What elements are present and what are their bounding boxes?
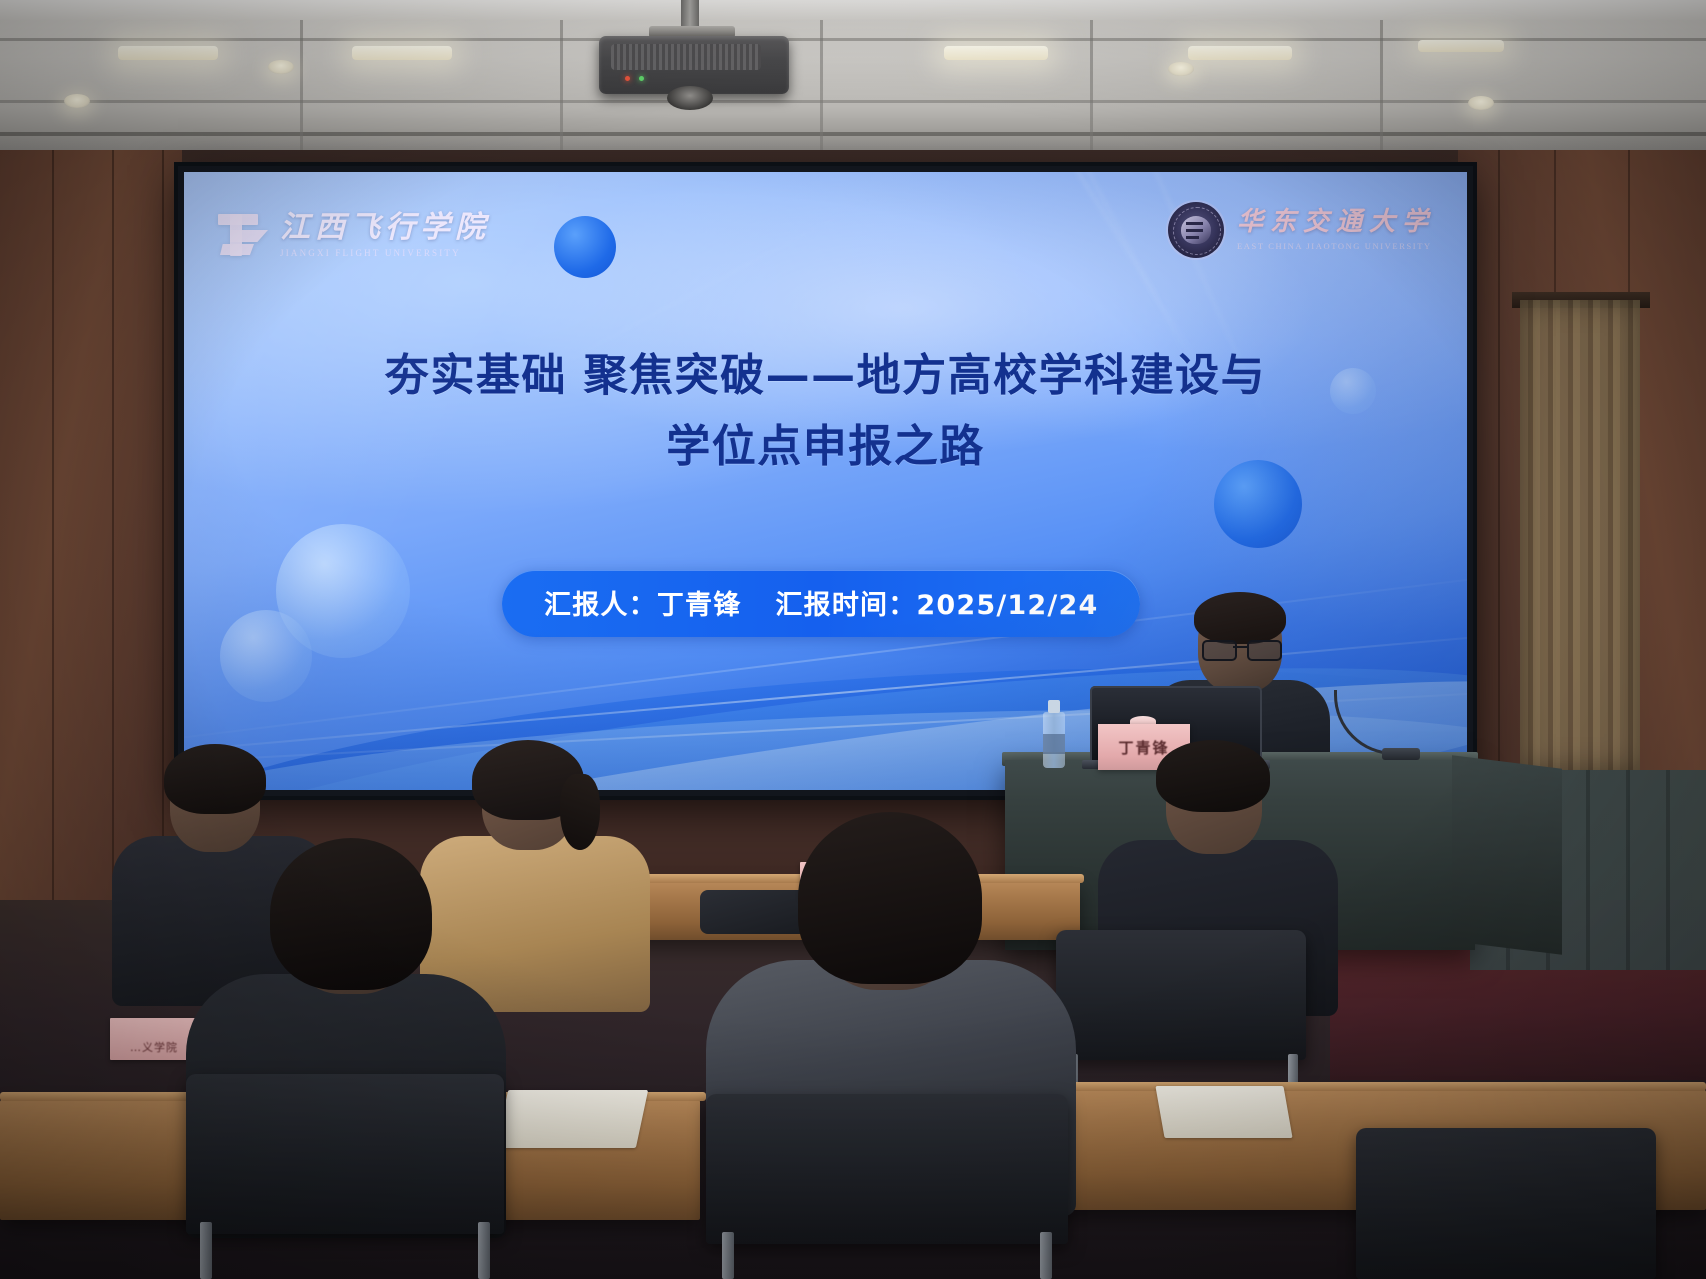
person-hair [270, 838, 432, 990]
window-curtain [1520, 300, 1640, 770]
audience-chair [1356, 1128, 1656, 1279]
slide-logo-left-cn: 江西飞行学院 [280, 213, 490, 243]
chair-leg [1040, 1232, 1052, 1279]
tent-card-text: …义学院 [130, 1039, 178, 1060]
presenter-label: 汇报人： [544, 590, 657, 621]
ceiling [0, 0, 1706, 150]
person-hair [164, 744, 266, 814]
ceiling-downlight [1468, 96, 1494, 110]
slide-title-line1: 夯实基础 聚焦突破——地方高校学科建设与 [385, 350, 1266, 401]
slide-presenter-pill: 汇报人：丁青锋汇报时间：2025/12/24 [502, 570, 1140, 637]
ceiling-light-panel [118, 46, 218, 60]
head-table-side-panel [1452, 755, 1562, 955]
slide-logo-right: 华东交通大学 EAST CHINA JIAOTONG UNIVERSITY [1168, 202, 1435, 258]
gooseneck-microphone [1330, 690, 1420, 770]
slide-logo-left: 江西飞行学院 JIANGXI FLIGHT UNIVERSITY [216, 212, 490, 258]
projector-lens-icon [667, 86, 713, 110]
ceiling-light-panel [352, 46, 452, 60]
audience-notepad [1155, 1086, 1292, 1138]
projector-power-led-icon [625, 76, 630, 81]
bottle-cap [1048, 700, 1060, 713]
date-value: 2025/12/24 [916, 590, 1098, 621]
ceiling-light-panel [1418, 40, 1504, 52]
slide-logo-left-en: JIANGXI FLIGHT UNIVERSITY [280, 248, 490, 258]
ceiling-downlight [1168, 62, 1194, 76]
audience-tent-card: …义学院 [110, 1018, 198, 1060]
audience-table-edge [1016, 1082, 1706, 1091]
ceiling-light-panel [1188, 46, 1292, 60]
speaker-hair [1194, 592, 1286, 644]
glasses-icon [1202, 640, 1278, 657]
slide-bubble [554, 216, 616, 278]
slide-logo-right-cn: 华东交通大学 [1237, 209, 1435, 235]
jxfly-logo-icon [216, 212, 268, 258]
person-hair-side [560, 774, 600, 850]
projector-vent-icon [611, 44, 761, 70]
ecjtu-crest-icon [1168, 202, 1224, 258]
audience-chair [1056, 930, 1306, 1060]
slide-title: 夯实基础 聚焦突破——地方高校学科建设与 学位点申报之路 [184, 340, 1467, 483]
chair-leg [200, 1222, 212, 1279]
date-label: 汇报时间： [775, 590, 916, 621]
slide-logo-right-en: EAST CHINA JIAOTONG UNIVERSITY [1237, 241, 1435, 251]
slide-title-line2: 学位点申报之路 [184, 411, 1467, 482]
chair-leg [478, 1222, 490, 1279]
audience-chair [706, 1094, 1068, 1244]
chair-leg [722, 1232, 734, 1279]
presenter-name: 丁青锋 [657, 590, 742, 621]
audience-chair [186, 1074, 504, 1234]
audience-notepad [496, 1090, 648, 1148]
person-hair [798, 812, 982, 984]
ceiling-downlight [64, 94, 90, 108]
ceiling-grid [0, 0, 1706, 150]
person-hair [1156, 740, 1270, 812]
ceiling-projector [589, 0, 799, 125]
ceiling-light-panel [944, 46, 1048, 60]
water-bottle [1043, 700, 1065, 768]
ceiling-downlight [268, 60, 294, 74]
projector-status-led-icon [639, 76, 644, 81]
conference-room-photo: 江西飞行学院 JIANGXI FLIGHT UNIVERSITY 华东交通大学 … [0, 0, 1706, 1279]
